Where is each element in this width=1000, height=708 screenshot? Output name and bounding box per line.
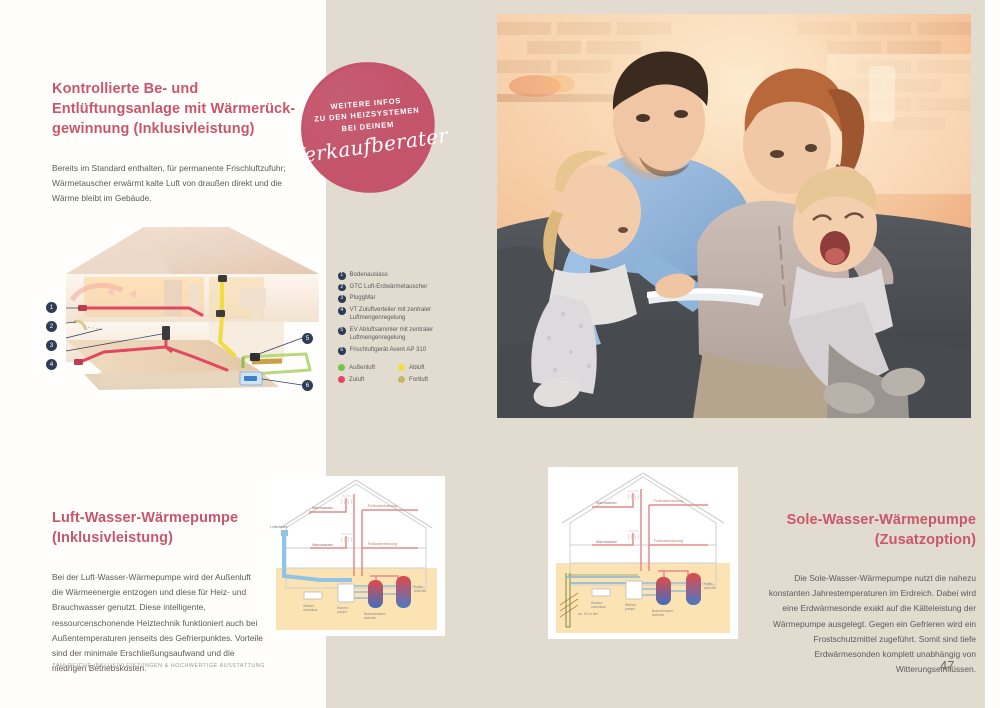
- house-callout-column-left: 1 2 3 4: [46, 302, 57, 378]
- legend-label-2: GTC Luft-Erdwärmetauscher: [350, 283, 428, 291]
- air-water-text-block: Luft-Wasser-Wärmepumpe (Inklusivleistung…: [52, 508, 264, 676]
- air-type-color-legend: Außenluft Abluft Zuluft Fortluft: [338, 364, 458, 388]
- label-borehole-depth: ca. 90 m tief: [578, 612, 598, 616]
- svg-text:anschluss: anschluss: [591, 605, 606, 609]
- swatch-zuluft-icon: [338, 376, 345, 383]
- ventilation-text-block: Kontrollierte Be- und Entlüftungsanlage …: [52, 79, 302, 207]
- legend-item: 3 PluggMar: [338, 294, 463, 303]
- ventilation-body: Bereits im Standard enthalten, für perma…: [52, 161, 302, 207]
- svg-text:speicher: speicher: [652, 613, 665, 617]
- house-callout-5[interactable]: 5: [302, 333, 313, 344]
- legend-label-4: VT Zuluftverteiler mit zentraler Luftmen…: [350, 306, 464, 323]
- air-legend-aussenluft: Außenluft: [338, 364, 398, 371]
- brine-water-title: Sole-Wasser-Wärmepumpe (Zusatzoption): [764, 510, 976, 550]
- svg-text:speicher: speicher: [364, 616, 377, 620]
- brochure-page: Kontrollierte Be- und Entlüftungsanlage …: [0, 0, 1000, 708]
- air-legend-row-1: Außenluft Abluft: [338, 364, 458, 371]
- label-luftschacht: Luftschacht: [270, 525, 287, 529]
- svg-text:pumpe: pumpe: [337, 610, 347, 614]
- svg-text:anschluss: anschluss: [303, 608, 318, 612]
- house-callout-3[interactable]: 3: [46, 340, 57, 351]
- legend-number-1: 1: [338, 272, 346, 280]
- air-legend-abluft: Abluft: [398, 364, 458, 371]
- footer-note: ZAHLREICHE INKLUSIVLEISTUNGEN & HOCHWERT…: [52, 663, 265, 669]
- air-water-title: Luft-Wasser-Wärmepumpe (Inklusivleistung…: [52, 508, 264, 548]
- air-legend-label-abluft: Abluft: [409, 364, 425, 371]
- svg-text:pumpe: pumpe: [625, 607, 635, 611]
- house-callout-6[interactable]: 6: [302, 380, 313, 391]
- air-legend-row-2: Zuluft Fortluft: [338, 376, 458, 383]
- ventilation-title: Kontrollierte Be- und Entlüftungsanlage …: [52, 79, 302, 139]
- label-fussbodenheizung-bottom-r: Fußbodenheizung: [654, 539, 683, 543]
- legend-number-5: 5: [338, 327, 346, 335]
- ventilation-title-line3: gewinnung (Inklusivleistung): [52, 119, 302, 139]
- label-fussbodenheizung-top: Fußbodenheizung: [368, 504, 397, 508]
- label-warmwasser-top: Warmwasser: [312, 506, 334, 510]
- air-water-body: Bei der Luft-Wasser-Wärmepumpe wird der …: [52, 570, 264, 676]
- house-cutaway-illustration: 1 2 3 4 5 6: [44, 222, 334, 392]
- ventilation-title-line1: Kontrollierte Be- und: [52, 79, 302, 99]
- legend-label-5: EV Abluftsammler mit zentraler Luftmenge…: [350, 326, 464, 343]
- label-fussbodenheizung-bottom: Fußbodenheizung: [368, 542, 397, 546]
- svg-text:speicher: speicher: [414, 589, 427, 593]
- brine-water-text-block: Sole-Wasser-Wärmepumpe (Zusatzoption) Di…: [764, 510, 976, 677]
- ventilation-title-line2: Entlüftungsanlage mit Wärmerück-: [52, 99, 302, 119]
- air-legend-fortluft: Fortluft: [398, 376, 458, 383]
- swatch-aussenluft-icon: [338, 364, 345, 371]
- legend-item: 6 Frischluftgerät Avent AP 310: [338, 346, 463, 355]
- family-photo: [497, 14, 971, 418]
- brine-water-title-line1: Sole-Wasser-Wärmepumpe: [764, 510, 976, 530]
- legend-label-6: Frischluftgerät Avent AP 310: [350, 346, 427, 354]
- air-legend-label-fortluft: Fortluft: [409, 376, 428, 383]
- svg-text:speicher: speicher: [704, 586, 717, 590]
- legend-item: 1 Bodenauslass: [338, 271, 463, 280]
- legend-item: 4 VT Zuluftverteiler mit zentraler Luftm…: [338, 306, 463, 323]
- legend-number-4: 4: [338, 307, 346, 315]
- air-legend-label-zuluft: Zuluft: [349, 376, 364, 383]
- swatch-abluft-icon: [398, 364, 405, 371]
- air-legend-label-aussenluft: Außenluft: [349, 364, 375, 371]
- page-number: 47: [940, 658, 954, 673]
- label-warmwasser-bottom: Warmwasser: [312, 543, 334, 547]
- brine-water-diagram-card: Warmwasser Fußbodenheizung Warmwasser Fu…: [548, 467, 738, 639]
- air-water-diagram-card: Warmwasser Fußbodenheizung Warmwasser Fu…: [268, 476, 445, 636]
- ventilation-legend: 1 Bodenauslass 2 GTC Luft-Erdwärmetausch…: [338, 271, 463, 358]
- legend-item: 5 EV Abluftsammler mit zentraler Luftmen…: [338, 326, 463, 343]
- legend-number-3: 3: [338, 295, 346, 303]
- right-white-margin: [985, 0, 1000, 708]
- legend-label-1: Bodenauslass: [350, 271, 388, 279]
- legend-item: 2 GTC Luft-Erdwärmetauscher: [338, 283, 463, 292]
- label-warmwasser-top-r: Warmwasser: [596, 501, 618, 505]
- label-fussbodenheizung-top-r: Fußbodenheizung: [654, 499, 683, 503]
- swatch-fortluft-icon: [398, 376, 405, 383]
- legend-label-3: PluggMar: [350, 294, 376, 302]
- label-warmwasser-bottom-r: Warmwasser: [596, 540, 618, 544]
- house-callout-4[interactable]: 4: [46, 359, 57, 370]
- legend-number-2: 2: [338, 284, 346, 292]
- air-legend-zuluft: Zuluft: [338, 376, 398, 383]
- legend-number-6: 6: [338, 347, 346, 355]
- house-callout-2[interactable]: 2: [46, 321, 57, 332]
- air-water-title-line1: Luft-Wasser-Wärmepumpe: [52, 508, 264, 528]
- house-callout-1[interactable]: 1: [46, 302, 57, 313]
- air-water-title-line2: (Inklusivleistung): [52, 528, 264, 548]
- brine-water-title-line2: (Zusatzoption): [764, 530, 976, 550]
